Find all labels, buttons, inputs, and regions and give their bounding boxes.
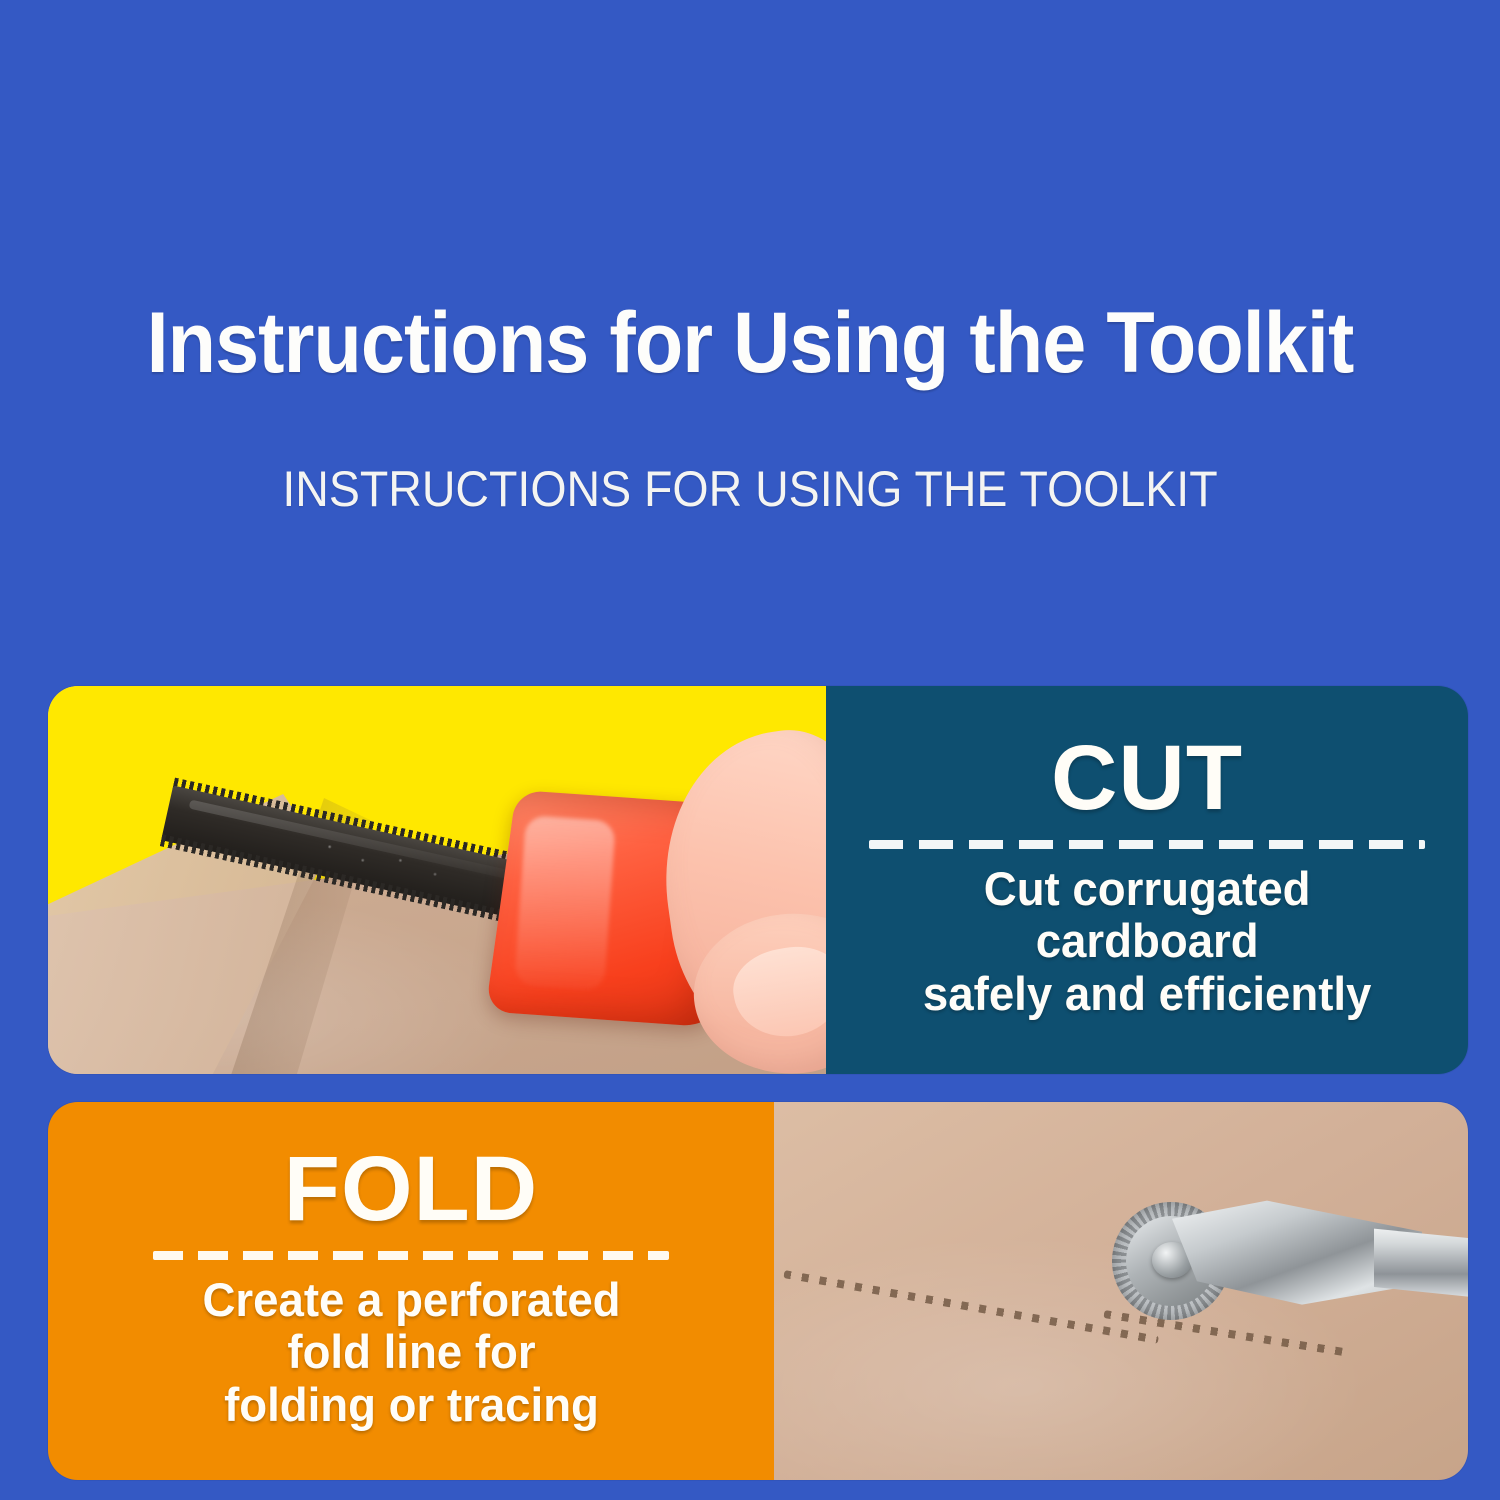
cut-heading: CUT [1051,733,1243,823]
perforation-line-left [783,1270,1159,1344]
fold-description-line-3: folding or tracing [202,1379,620,1432]
card-cut: CUT Cut corrugated cardboard safely and … [48,686,1468,1074]
tracing-wheel-shaft [1374,1220,1468,1328]
fold-heading: FOLD [284,1144,538,1234]
cut-description-line-1: Cut corrugated [923,863,1371,916]
card-fold: FOLD Create a perforated fold line for f… [48,1102,1468,1480]
page-subtitle: INSTRUCTIONS FOR USING THE TOOLKIT [53,464,1448,514]
fold-description-line-1: Create a perforated [202,1274,620,1327]
infographic-page: Instructions for Using the Toolkit INSTR… [0,0,1500,1500]
red-handle-highlight [514,815,616,991]
dashed-divider-cut [869,840,1425,849]
fold-photo [774,1102,1468,1480]
cut-description-line-2: cardboard [923,915,1371,968]
dashed-divider-fold [153,1251,669,1260]
header-block: Instructions for Using the Toolkit INSTR… [0,300,1500,514]
page-title: Instructions for Using the Toolkit [60,300,1440,386]
cut-description: Cut corrugated cardboard safely and effi… [923,863,1371,1021]
cut-label-panel: CUT Cut corrugated cardboard safely and … [826,686,1468,1074]
fold-label-panel: FOLD Create a perforated fold line for f… [48,1102,774,1480]
fold-description: Create a perforated fold line for foldin… [202,1274,620,1432]
cut-photo [48,686,826,1074]
cut-description-line-3: safely and efficiently [923,968,1371,1021]
fold-description-line-2: fold line for [202,1326,620,1379]
